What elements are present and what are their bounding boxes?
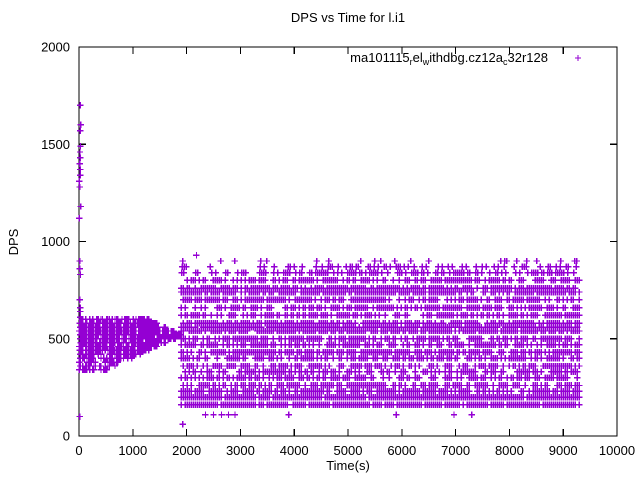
data-point-marker — [495, 264, 501, 270]
data-point-marker — [387, 264, 393, 270]
data-point-marker — [392, 369, 398, 375]
data-point-marker — [400, 363, 406, 369]
data-point-marker — [517, 269, 523, 275]
data-point-marker — [260, 363, 266, 369]
data-point-marker — [314, 258, 320, 264]
x-axis-title-group: Time(s) — [326, 458, 370, 473]
data-point-marker — [207, 264, 213, 270]
data-point-marker — [378, 258, 384, 264]
data-point-marker — [77, 172, 83, 178]
x-tick-label: 0 — [75, 443, 82, 458]
data-point-marker — [558, 258, 564, 264]
data-point-marker — [77, 203, 83, 209]
data-point-marker — [299, 264, 305, 270]
data-point-marker — [261, 264, 267, 270]
data-point-marker — [286, 297, 292, 303]
data-point-marker — [463, 264, 469, 270]
data-point-marker — [412, 369, 418, 375]
data-point-marker — [439, 264, 445, 270]
data-point-marker — [278, 355, 284, 361]
data-point-marker — [76, 215, 82, 221]
data-point-marker — [402, 382, 408, 388]
data-point-marker — [330, 355, 336, 361]
data-point-marker — [511, 264, 517, 270]
data-point-marker — [258, 258, 264, 264]
data-point-marker — [180, 258, 186, 264]
data-point-marker — [192, 304, 198, 310]
y-tick-label: 1500 — [41, 137, 70, 152]
data-point-marker — [194, 363, 200, 369]
data-point-marker — [434, 363, 440, 369]
gnuplot-scatter-chart: DPS vs Time for l.i1 0500100015002000 01… — [0, 0, 640, 480]
data-point-marker — [202, 304, 208, 310]
data-point-marker — [258, 304, 264, 310]
data-point-marker — [411, 264, 417, 270]
data-point-marker — [222, 277, 228, 283]
data-point-marker — [392, 258, 398, 264]
data-point-marker — [466, 341, 472, 347]
data-point-marker — [210, 411, 216, 417]
data-point-marker — [275, 269, 281, 275]
data-point-marker — [557, 264, 563, 270]
data-point-marker — [405, 264, 411, 270]
data-point-marker — [458, 374, 464, 380]
data-point-marker — [314, 277, 320, 283]
data-point-marker — [225, 411, 231, 417]
data-point-marker — [214, 355, 220, 361]
legend-marker-plus-icon — [575, 55, 581, 61]
data-point-marker — [270, 336, 276, 342]
x-tick-label: 7000 — [441, 443, 470, 458]
data-point-marker — [382, 312, 388, 318]
data-point-marker — [571, 269, 577, 275]
data-point-marker — [503, 269, 509, 275]
data-point-marker — [408, 258, 414, 264]
data-point-marker — [574, 374, 580, 380]
y-axis-title: DPS — [6, 228, 21, 255]
data-point-marker — [372, 258, 378, 264]
data-point-marker — [208, 312, 214, 318]
data-point-marker — [386, 374, 392, 380]
y-tick-label: 0 — [63, 429, 70, 444]
data-point-marker — [77, 258, 83, 264]
chart-title: DPS vs Time for l.i1 — [291, 10, 405, 25]
data-point-marker — [490, 382, 496, 388]
y-tick-label: 2000 — [41, 40, 70, 55]
data-point-marker — [77, 166, 83, 172]
data-point-marker — [76, 297, 82, 303]
data-point-marker — [264, 258, 270, 264]
x-tick-label: 10000 — [599, 443, 635, 458]
data-point-marker — [423, 264, 429, 270]
data-point-marker — [501, 264, 507, 270]
data-point-marker — [393, 411, 399, 417]
data-point-marker — [376, 312, 382, 318]
data-point-marker — [182, 304, 188, 310]
data-point-marker — [319, 264, 325, 270]
chart-title-group: DPS vs Time for l.i1 — [291, 10, 405, 25]
data-point-marker — [188, 382, 194, 388]
data-point-marker — [576, 289, 582, 295]
data-point-marker — [218, 258, 224, 264]
data-point-marker — [222, 304, 228, 310]
data-point-marker — [316, 341, 322, 347]
data-point-marker — [478, 297, 484, 303]
data-point-marker — [77, 161, 83, 167]
data-point-marker — [474, 285, 480, 291]
data-point-marker — [500, 363, 506, 369]
data-point-marker — [500, 312, 506, 318]
data-point-marker — [193, 252, 199, 258]
data-point-marker — [576, 297, 582, 303]
data-point-marker — [426, 258, 432, 264]
data-point-marker — [271, 264, 277, 270]
chart-svg: DPS vs Time for l.i1 0500100015002000 01… — [0, 0, 640, 480]
x-tick-label: 6000 — [387, 443, 416, 458]
data-points-layer — [76, 102, 582, 427]
x-axis-title: Time(s) — [326, 458, 370, 473]
data-point-marker — [403, 269, 409, 275]
data-point-marker — [291, 264, 297, 270]
data-point-marker — [576, 363, 582, 369]
data-point-marker — [260, 374, 266, 380]
data-point-marker — [302, 382, 308, 388]
data-point-marker — [576, 336, 582, 342]
data-point-marker — [514, 258, 520, 264]
data-point-marker — [232, 411, 238, 417]
data-point-marker — [76, 359, 82, 365]
data-point-marker — [420, 341, 426, 347]
data-point-marker — [538, 369, 544, 375]
data-point-marker — [77, 266, 83, 272]
x-tick-label: 3000 — [226, 443, 255, 458]
data-point-marker — [77, 184, 83, 190]
x-tick-label: 4000 — [280, 443, 309, 458]
data-point-marker — [286, 355, 292, 361]
data-point-marker — [218, 312, 224, 318]
data-point-marker — [534, 258, 540, 264]
data-point-marker — [396, 277, 402, 283]
data-point-marker — [479, 269, 485, 275]
data-point-marker — [538, 341, 544, 347]
data-point-marker — [560, 355, 566, 361]
data-point-marker — [312, 297, 318, 303]
data-point-marker — [198, 369, 204, 375]
data-point-marker — [322, 304, 328, 310]
data-point-marker — [310, 341, 316, 347]
y-axis-title-group: DPS — [6, 228, 21, 255]
data-point-marker — [336, 369, 342, 375]
data-point-marker — [286, 411, 292, 417]
data-point-marker — [188, 349, 194, 355]
data-point-marker — [528, 341, 534, 347]
data-point-marker — [202, 411, 208, 417]
data-point-marker — [326, 258, 332, 264]
data-point-marker — [385, 269, 391, 275]
data-point-marker — [77, 155, 83, 161]
data-point-marker — [449, 264, 455, 270]
data-point-marker — [328, 312, 334, 318]
x-tick-label: 8000 — [495, 443, 524, 458]
data-point-marker — [204, 363, 210, 369]
data-point-marker — [379, 269, 385, 275]
data-point-marker — [487, 269, 493, 275]
data-point-marker — [382, 363, 388, 369]
data-point-marker — [180, 421, 186, 427]
data-point-marker — [538, 355, 544, 361]
data-point-marker — [546, 297, 552, 303]
data-point-marker — [232, 258, 238, 264]
data-point-marker — [76, 178, 82, 184]
legend-entry-label: ma101115relwithdbg.cz12ac32r128 — [350, 50, 548, 67]
data-point-marker — [436, 369, 442, 375]
data-point-marker — [473, 264, 479, 270]
data-point-marker — [573, 264, 579, 270]
x-tick-label: 5000 — [334, 443, 363, 458]
x-tick-label: 2000 — [172, 443, 201, 458]
data-point-marker — [522, 382, 528, 388]
data-point-marker — [202, 349, 208, 355]
data-point-marker — [77, 127, 83, 133]
x-tick-label: 1000 — [118, 443, 147, 458]
data-point-marker — [565, 269, 571, 275]
x-tick-label: 9000 — [549, 443, 578, 458]
data-point-marker — [390, 277, 396, 283]
data-point-marker — [77, 308, 83, 314]
data-point-marker — [482, 355, 488, 361]
data-point-marker — [483, 264, 489, 270]
data-point-marker — [508, 388, 514, 394]
y-tick-label: 1000 — [41, 234, 70, 249]
data-point-marker — [425, 269, 431, 275]
data-point-marker — [335, 264, 341, 270]
data-point-marker — [375, 264, 381, 270]
data-point-marker — [537, 264, 543, 270]
data-point-marker — [396, 297, 402, 303]
y-tick-label: 500 — [48, 331, 70, 346]
data-point-marker — [313, 264, 319, 270]
data-point-marker — [416, 363, 422, 369]
data-point-marker — [77, 102, 83, 108]
data-point-marker — [77, 149, 83, 155]
data-point-marker — [358, 258, 364, 264]
data-point-marker — [286, 388, 292, 394]
data-point-marker — [386, 297, 392, 303]
data-point-marker — [524, 258, 530, 264]
data-point-marker — [77, 271, 83, 277]
data-point-marker — [554, 304, 560, 310]
data-point-marker — [218, 411, 224, 417]
data-point-marker — [77, 122, 83, 128]
data-point-marker — [356, 369, 362, 375]
data-point-marker — [326, 363, 332, 369]
legend: ma101115relwithdbg.cz12ac32r128 — [350, 50, 581, 67]
data-point-marker — [213, 269, 219, 275]
data-point-marker — [339, 269, 345, 275]
data-point-marker — [76, 413, 82, 419]
data-point-marker — [451, 411, 457, 417]
data-point-marker — [380, 374, 386, 380]
data-point-marker — [374, 277, 380, 283]
data-point-marker — [469, 411, 475, 417]
